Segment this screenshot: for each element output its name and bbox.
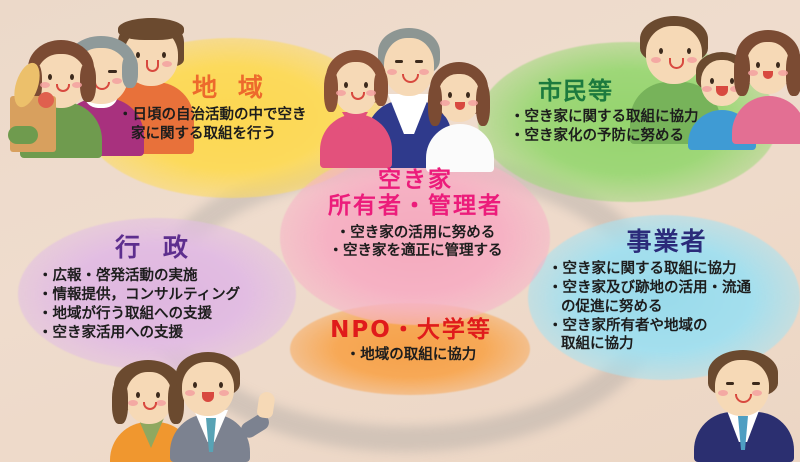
bullet-item: ・情報提供，コンサルティング <box>38 286 286 305</box>
node-npo[interactable]: NPO・大学等 ・地域の取組に協力 <box>292 318 530 365</box>
bullet-item: ・空き家活用への支援 <box>38 324 286 343</box>
node-citizen[interactable]: 市民等 ・空き家に関する取組に協力 ・空き家化の予防に努める <box>510 78 755 146</box>
node-owner-heading-line1: 空き家 <box>288 168 543 194</box>
bullet-item: の促進に努める <box>548 298 796 317</box>
node-area-heading: 地 域 <box>118 74 343 102</box>
node-admin[interactable]: 行 政 ・広報・啓発活動の実施 ・情報提供，コンサルティング ・地域が行う取組へ… <box>24 234 286 342</box>
bullet-item: ・広報・啓発活動の実施 <box>38 267 286 286</box>
node-business-heading: 事業者 <box>538 228 796 256</box>
node-business-bullets: ・空き家に関する取組に協力 ・空き家及び跡地の活用・流通 の促進に努める ・空き… <box>538 260 796 354</box>
illustration-government-officials <box>110 352 270 462</box>
diagram-canvas: 地 域 ・日頃の自治活動の中で空き 家に関する取組を行う 市民等 ・空き家に関す… <box>0 0 800 462</box>
bullet-item: ・空き家に関する取組に協力 <box>548 260 796 279</box>
bullet-item: ・空き家に関する取組に協力 <box>510 108 755 127</box>
bullet-item: ・空き家の活用に努める <box>288 224 543 243</box>
node-owner-heading-line2: 所有者・管理者 <box>288 194 543 220</box>
bullet-item: 取組に協力 <box>548 335 796 354</box>
node-admin-heading: 行 政 <box>24 234 286 262</box>
node-admin-bullets: ・広報・啓発活動の実施 ・情報提供，コンサルティング ・地域が行う取組への支援 … <box>24 267 286 342</box>
bullet-item: ・空き家を適正に管理する <box>288 242 543 261</box>
node-business[interactable]: 事業者 ・空き家に関する取組に協力 ・空き家及び跡地の活用・流通 の促進に努める… <box>538 228 796 354</box>
node-owner[interactable]: 空き家 所有者・管理者 ・空き家の活用に努める ・空き家を適正に管理する <box>288 168 543 261</box>
illustration-business-person <box>690 350 800 462</box>
node-owner-bullets: ・空き家の活用に努める ・空き家を適正に管理する <box>288 224 543 262</box>
bullet-item: ・地域の取組に協力 <box>292 346 530 365</box>
node-area[interactable]: 地 域 ・日頃の自治活動の中で空き 家に関する取組を行う <box>118 74 343 144</box>
bullet-item: 家に関する取組を行う <box>118 125 343 144</box>
bullet-item: ・日頃の自治活動の中で空き <box>118 106 343 125</box>
bullet-item: ・空き家及び跡地の活用・流通 <box>548 279 796 298</box>
bullet-item: ・空き家所有者や地域の <box>548 317 796 336</box>
node-area-bullets: ・日頃の自治活動の中で空き 家に関する取組を行う <box>118 106 343 144</box>
bullet-item: ・空き家化の予防に努める <box>510 127 755 146</box>
node-citizen-heading: 市民等 <box>538 78 755 105</box>
node-npo-heading: NPO・大学等 <box>292 318 530 344</box>
node-npo-bullets: ・地域の取組に協力 <box>292 346 530 365</box>
bullet-item: ・地域が行う取組への支援 <box>38 305 286 324</box>
node-citizen-bullets: ・空き家に関する取組に協力 ・空き家化の予防に努める <box>510 108 755 146</box>
